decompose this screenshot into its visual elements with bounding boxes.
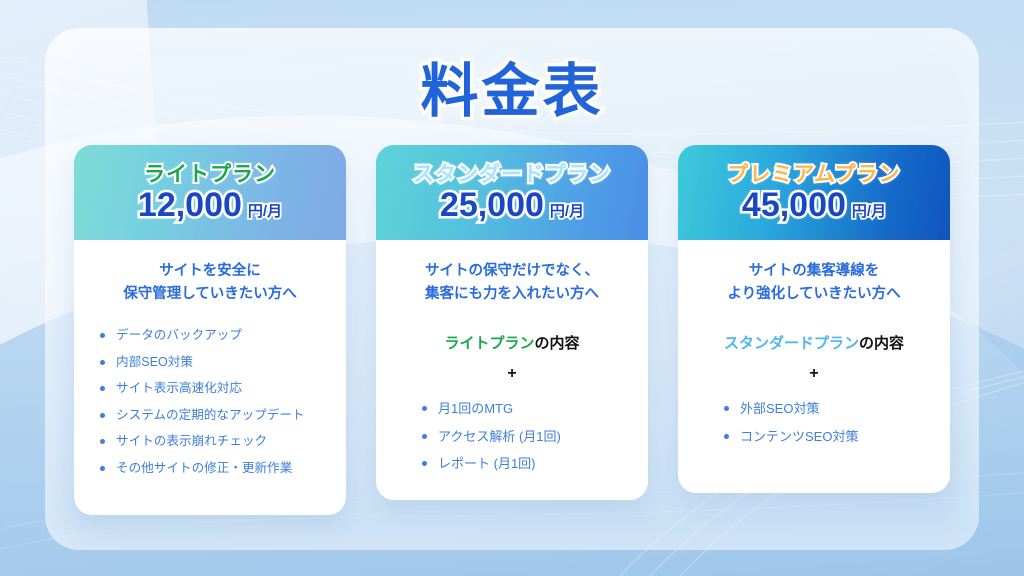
plan-name-standard: スタンダードプラン [413, 163, 611, 186]
included-plan-suffix-standard: の内容 [535, 335, 580, 352]
list-item: 外部SEO対策 [724, 399, 932, 419]
plan-price-light: 12,000 [138, 188, 242, 222]
price-row-premium: 45,000 円/月 [742, 188, 886, 222]
included-plan-name-standard: ライトプラン [444, 335, 534, 352]
card-body-standard: サイトの保守だけでなく、 集客にも力を入れたい方へ ライトプランの内容 + 月1… [376, 240, 648, 500]
plan-name-premium: プレミアムプラン [727, 163, 900, 186]
card-header-light: ライトプラン 12,000 円/月 [74, 145, 346, 240]
feature-list-light: データのバックアップ 内部SEO対策 サイト表示高速化対応 システムの定期的なア… [92, 326, 328, 485]
card-body-light: サイトを安全に 保守管理していきたい方へ データのバックアップ 内部SEO対策 … [74, 240, 346, 515]
pricing-cards: ライトプラン 12,000 円/月 サイトを安全に 保守管理していきたい方へ デ… [74, 145, 950, 515]
list-item: アクセス解析 (月1回) [422, 427, 630, 447]
page-title: 料金表 [0, 44, 1024, 128]
list-item: サイトの表示崩れチェック [100, 432, 328, 452]
feature-list-standard: 月1回のMTG アクセス解析 (月1回) レポート (月1回) [394, 399, 630, 480]
plan-subtitle-standard: サイトの保守だけでなく、 集客にも力を入れたい方へ [425, 260, 599, 306]
list-item: データのバックアップ [100, 326, 328, 346]
price-row-standard: 25,000 円/月 [440, 188, 584, 222]
pricing-card-light[interactable]: ライトプラン 12,000 円/月 サイトを安全に 保守管理していきたい方へ デ… [74, 145, 346, 515]
plan-price-unit-light: 円/月 [248, 200, 282, 221]
list-item: 月1回のMTG [422, 399, 630, 419]
plan-price-premium: 45,000 [742, 188, 846, 222]
plan-price-unit-standard: 円/月 [550, 200, 584, 221]
included-plan-premium: スタンダードプランの内容 [724, 332, 904, 353]
card-body-premium: サイトの集客導線を より強化していきたい方へ スタンダードプランの内容 + 外部… [678, 240, 950, 493]
included-plan-standard: ライトプランの内容 [444, 332, 579, 353]
pricing-card-standard[interactable]: スタンダードプラン 25,000 円/月 サイトの保守だけでなく、 集客にも力を… [376, 145, 648, 500]
card-header-premium: プレミアムプラン 45,000 円/月 [678, 145, 950, 240]
list-item: 内部SEO対策 [100, 353, 328, 373]
list-item: サイト表示高速化対応 [100, 379, 328, 399]
list-item: コンテンツSEO対策 [724, 427, 932, 447]
slide-root: 料金表 ライトプラン 12,000 円/月 サイトを安全に 保守管理していきたい… [0, 0, 1024, 576]
included-plan-name-premium: スタンダードプラン [724, 335, 859, 352]
price-row-light: 12,000 円/月 [138, 188, 282, 222]
plan-price-unit-premium: 円/月 [852, 200, 886, 221]
plus-sign-premium: + [809, 365, 818, 383]
plus-sign-standard: + [507, 365, 516, 383]
plan-name-light: ライトプラン [144, 163, 276, 186]
plan-subtitle-premium: サイトの集客導線を より強化していきたい方へ [727, 260, 900, 306]
list-item: システムの定期的なアップデート [100, 406, 328, 426]
pricing-card-premium[interactable]: プレミアムプラン 45,000 円/月 サイトの集客導線を より強化していきたい… [678, 145, 950, 493]
plan-subtitle-light: サイトを安全に 保守管理していきたい方へ [123, 260, 297, 306]
included-plan-suffix-premium: の内容 [859, 335, 904, 352]
plan-price-standard: 25,000 [440, 188, 544, 222]
list-item: レポート (月1回) [422, 454, 630, 474]
card-header-standard: スタンダードプラン 25,000 円/月 [376, 145, 648, 240]
feature-list-premium: 外部SEO対策 コンテンツSEO対策 [696, 399, 932, 453]
list-item: その他サイトの修正・更新作業 [100, 459, 328, 479]
